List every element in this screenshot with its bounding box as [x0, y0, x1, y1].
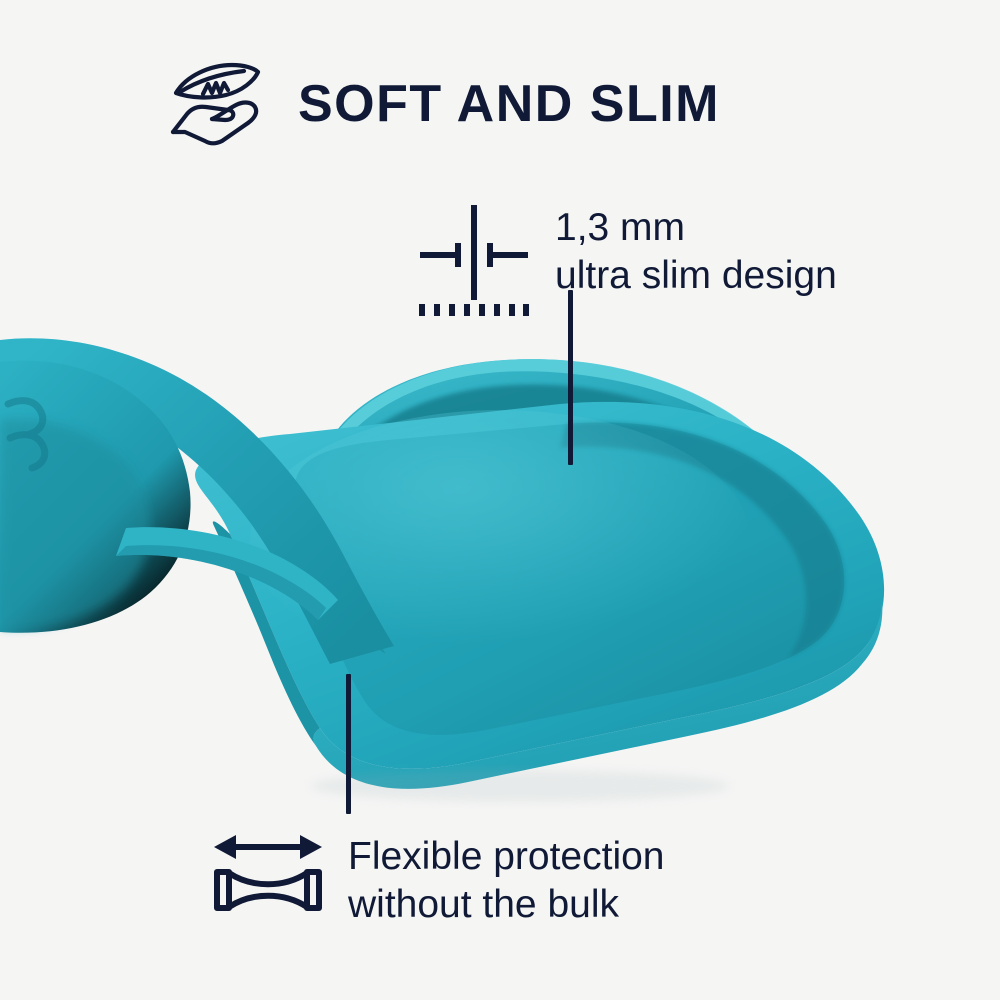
flexibility-label: Flexible protection without the bulk: [348, 832, 665, 928]
header: SOFT AND SLIM: [170, 62, 720, 146]
thickness-desc-line: ultra slim design: [555, 252, 837, 300]
case-tray-body: [195, 402, 884, 769]
case-lip-strap: [116, 527, 338, 620]
case-sheen: [250, 410, 750, 670]
stretch-arrow-icon: [212, 832, 324, 914]
thickness-label: 1,3 mm ultra slim design: [555, 200, 837, 299]
page-title: SOFT AND SLIM: [298, 78, 720, 130]
case-left-panel: [0, 361, 191, 633]
case-flex-arch: [0, 350, 386, 654]
case-back-rim-shadow: [326, 384, 793, 548]
case-lip-strap-shadow: [116, 545, 326, 620]
feather-in-hand-icon: [170, 62, 262, 146]
leader-line-flexibility: [346, 674, 351, 814]
case-bottom-left-corner: [213, 521, 320, 746]
thickness-value-line: 1,3 mm: [555, 204, 837, 252]
thickness-measure-icon: [418, 200, 530, 318]
callout-flexibility: Flexible protection without the bulk: [212, 832, 665, 928]
callout-thickness: 1,3 mm ultra slim design: [418, 200, 837, 318]
case-inner-cavity: [293, 422, 844, 735]
case-contact-shadow: [310, 770, 730, 802]
flexibility-line-1: Flexible protection: [348, 833, 665, 881]
product-feature-graphic: SOFT AND SLIM: [0, 0, 1000, 1000]
leader-line-thickness: [568, 290, 573, 465]
case-left-curl: [0, 338, 394, 664]
case-left-panel-shade: [0, 419, 150, 628]
button-cutout-embossing: [8, 401, 45, 468]
case-inner-groove-shadow: [560, 422, 844, 658]
case-back-rim-highlight: [314, 359, 806, 500]
case-front-rim: [313, 600, 882, 789]
case-back-wall: [310, 359, 811, 566]
flexibility-line-2: without the bulk: [348, 881, 665, 929]
